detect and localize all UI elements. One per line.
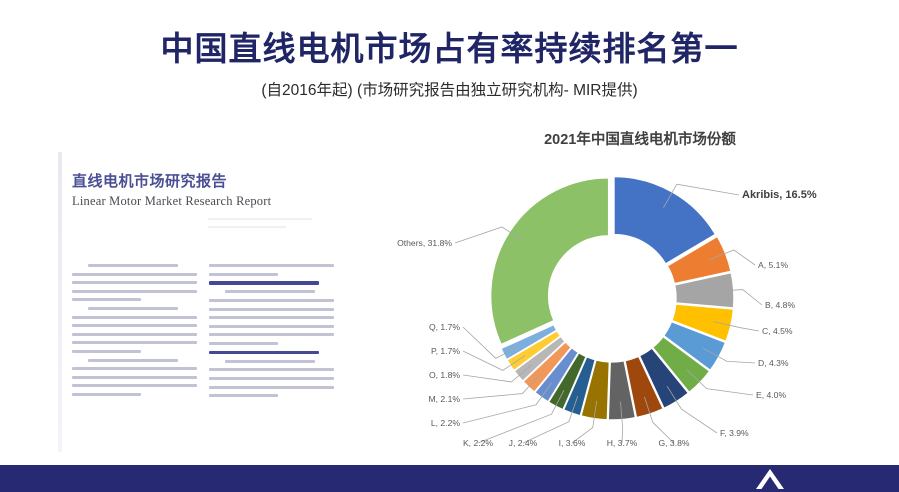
pie-data-label: B, 4.8% [765,300,795,310]
document-section-2-heading [209,281,319,285]
document-header: 直线电机市场研究报告 Linear Motor Market Research … [58,152,348,209]
pie-data-label: C, 4.5% [762,326,793,336]
pie-data-label: A, 5.1% [758,260,788,270]
doughnut-chart-svg: Akribis, 16.5%A, 5.1%B, 4.8%C, 4.5%D, 4.… [390,150,890,450]
pie-data-label: Others, 31.8% [397,238,452,248]
document-edge [58,152,62,452]
pie-data-label: Akribis, 16.5% [742,189,817,201]
pie-data-label: I, 3.6% [559,438,586,448]
pie-data-label: O, 1.8% [429,370,460,380]
document-title-en: Linear Motor Market Research Report [72,194,348,209]
pie-data-label: H, 3.7% [607,438,638,448]
pie-slice [491,178,609,345]
pie-data-label: J, 2.4% [509,438,538,448]
page-title: 中国直线电机市场占有率持续排名第一 [0,30,899,68]
pie-data-label: L, 2.2% [431,418,461,428]
pie-data-label: D, 4.3% [758,358,789,368]
document-watermark [208,212,318,238]
pie-data-label: F, 3.9% [720,428,749,438]
akribis-triangle-logo-icon [748,465,792,492]
document-section-3-heading [209,351,319,355]
pie-data-label: P, 1.7% [431,346,460,356]
pie-data-label: E, 4.0% [756,390,786,400]
pie-data-label: G, 3.8% [658,438,689,448]
pie-data-label: K, 2.2% [463,438,493,448]
document-column-right [209,264,334,444]
market-share-chart: 2021年中国直线电机市场份额 Akribis, 16.5%A, 5.1%B, … [390,128,890,458]
pie-data-label: M, 2.1% [428,394,460,404]
report-document-thumbnail: 直线电机市场研究报告 Linear Motor Market Research … [58,152,348,452]
document-title-cn: 直线电机市场研究报告 [72,170,348,191]
chart-title: 2021年中国直线电机市场份额 [390,128,890,149]
footer-bar [0,465,899,492]
page-subtitle: (自2016年起) (市场研究报告由独立研究机构- MIR提供) [0,78,899,100]
slide-canvas: 中国直线电机市场占有率持续排名第一 (自2016年起) (市场研究报告由独立研究… [0,0,899,492]
title-block: 中国直线电机市场占有率持续排名第一 (自2016年起) (市场研究报告由独立研究… [0,30,899,100]
document-column-left [72,264,197,444]
pie-data-label: Q, 1.7% [429,322,460,332]
document-body-columns [72,264,334,444]
